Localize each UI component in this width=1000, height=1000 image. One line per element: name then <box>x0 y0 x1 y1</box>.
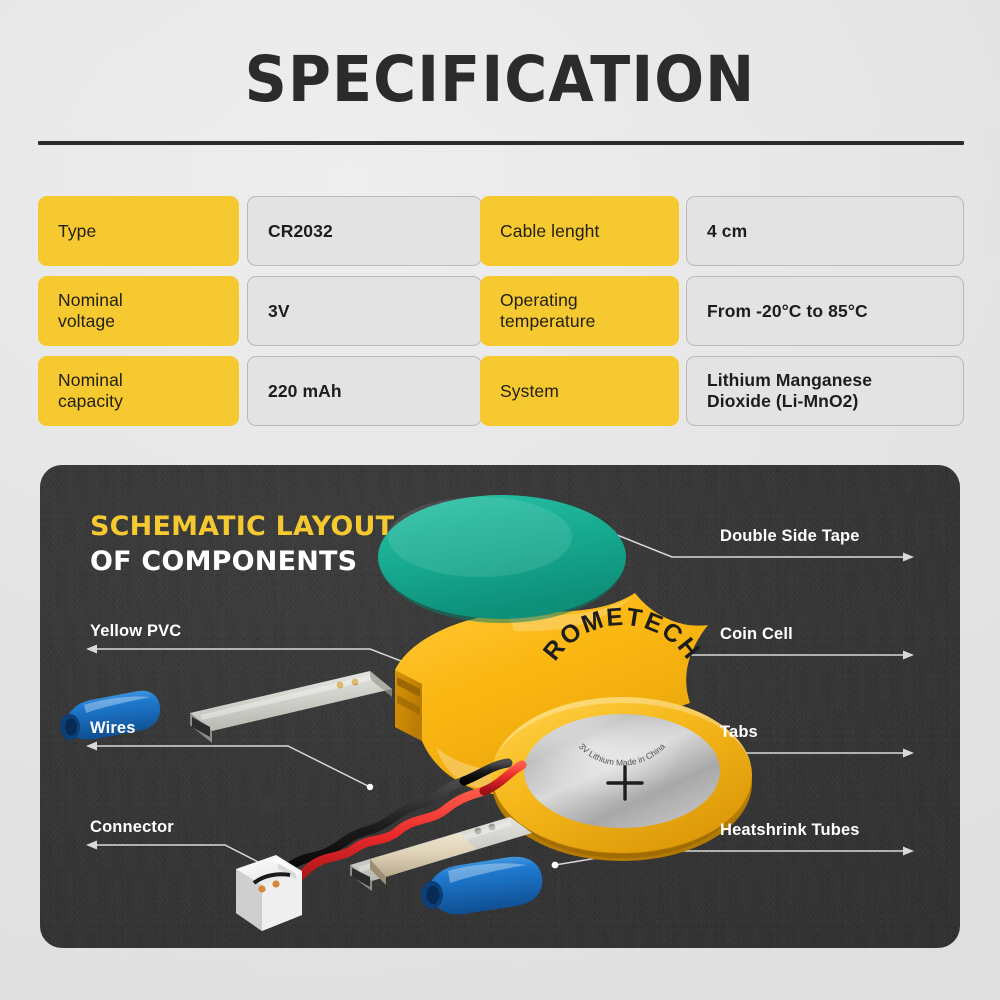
callout-yellow-pvc: Yellow PVC <box>90 622 181 641</box>
callout-tabs: Tabs <box>720 723 758 742</box>
schematic-panel: SCHEMATIC LAYOUT OF COMPONENTS <box>40 465 960 948</box>
page-title: SPECIFICATION <box>35 48 965 111</box>
spec-value: 220 mAh <box>247 356 482 426</box>
infographic-page: SPECIFICATION Type CR2032 Nominalvoltage… <box>0 0 1000 1000</box>
connector-part <box>236 794 302 948</box>
callout-double-side-tape: Double Side Tape <box>720 527 860 546</box>
spec-label: Nominalvoltage <box>38 276 239 346</box>
callout-heatshrink-tubes: Heatshrink Tubes <box>720 821 860 840</box>
spec-value: CR2032 <box>247 196 482 266</box>
spec-label: Operatingtemperature <box>480 276 679 346</box>
tab-upper-part <box>190 671 392 743</box>
callout-wires: Wires <box>90 719 136 738</box>
spec-label: Cable lenght <box>480 196 679 266</box>
spec-value: 3V <box>247 276 482 346</box>
callout-coin-cell: Coin Cell <box>720 625 793 644</box>
double-side-tape-part <box>378 495 626 623</box>
spec-label: Type <box>38 196 239 266</box>
spec-label: System <box>480 356 679 426</box>
spec-value: Lithium ManganeseDioxide (Li-MnO2) <box>686 356 964 426</box>
spec-label: Nominalcapacity <box>38 356 239 426</box>
callout-connector: Connector <box>90 818 174 837</box>
spec-value: From -20°C to 85°C <box>686 276 964 346</box>
heatshrink-tube-lower-part <box>421 857 542 915</box>
title-divider <box>38 141 964 145</box>
spec-value: 4 cm <box>686 196 964 266</box>
